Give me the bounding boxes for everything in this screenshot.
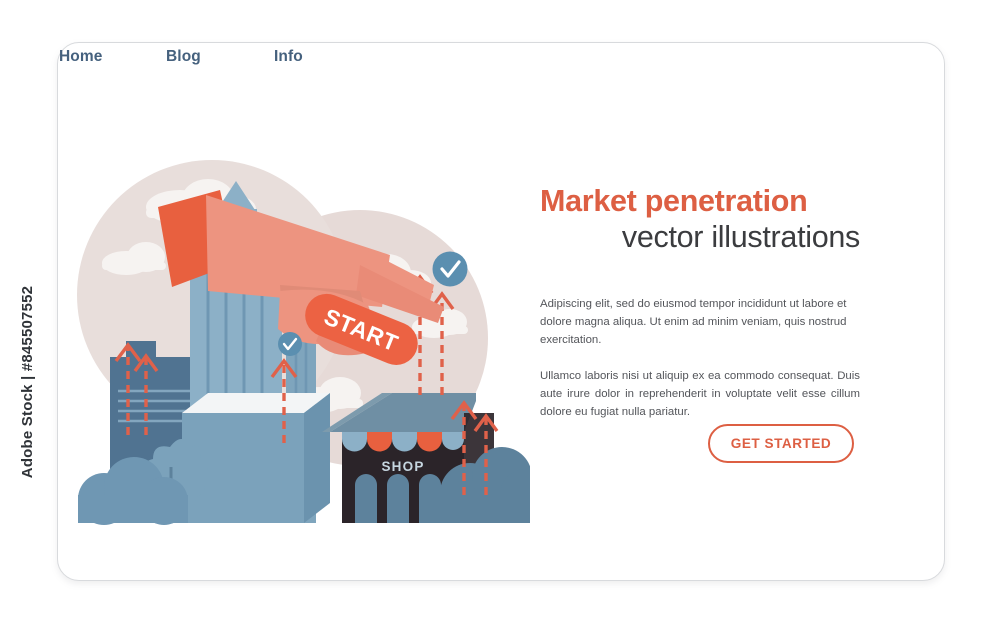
shop-sign-text: SHOP xyxy=(381,459,424,474)
body-paragraph-2: Ullamco laboris nisi ut aliquip ex ea co… xyxy=(540,368,860,421)
hero-copy-column: Market penetration vector illustrations … xyxy=(540,185,860,422)
headline-primary: Market penetration xyxy=(540,185,860,218)
body-paragraph-1: Adipiscing elit, sed do eiusmod tempor i… xyxy=(540,296,860,349)
nav-link-home[interactable]: Home xyxy=(59,48,166,66)
shop-windows xyxy=(355,474,441,523)
check-badge-large xyxy=(433,252,468,287)
get-started-button[interactable]: GET STARTED xyxy=(708,424,854,463)
check-badge-small xyxy=(278,332,302,356)
headline-secondary: vector illustrations xyxy=(540,220,860,254)
nav-link-blog[interactable]: Blog xyxy=(166,48,274,66)
top-navigation: Home Blog Info xyxy=(59,48,303,66)
market-penetration-illustration: SHOP xyxy=(30,95,530,537)
nav-link-info[interactable]: Info xyxy=(274,48,303,66)
